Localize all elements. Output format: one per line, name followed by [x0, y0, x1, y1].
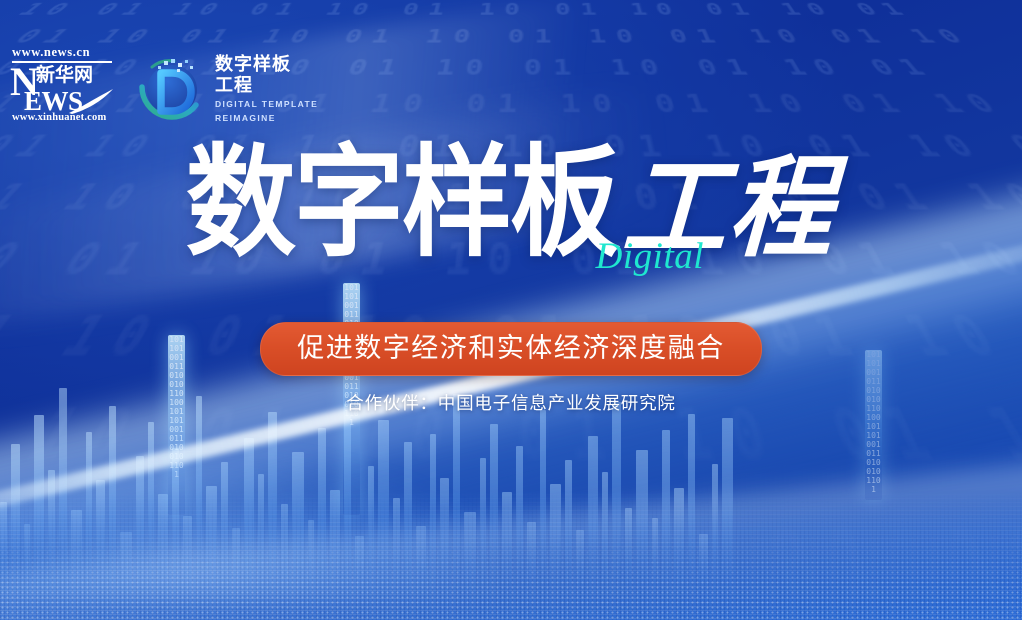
skyline-bar	[527, 522, 536, 620]
skyline-bar	[281, 504, 288, 620]
skyline-bar	[430, 434, 436, 620]
skyline-bar	[24, 524, 30, 620]
promo-banner: 01 10 01 10 01 10 01 10 01 10 01 10 01 1…	[0, 0, 1022, 620]
skyline-bar	[86, 432, 92, 620]
binary-code-row: 01 10 01 10 01 10 01 10 01 10 01 10 01 1…	[0, 497, 1022, 620]
skyline-bar	[453, 394, 460, 620]
hero-title-english: Digital	[596, 238, 704, 275]
hero-title-line: 数字样板 工程 Digital	[190, 155, 832, 267]
skyline-bar	[699, 534, 708, 620]
lower-left-glow	[0, 440, 613, 600]
skyline-bar	[59, 388, 67, 620]
skyline-bar	[652, 518, 658, 620]
skyline-bar	[565, 460, 572, 620]
skyline-bar	[588, 436, 598, 620]
xinhua-wordmark: N 新华网 EWS	[10, 64, 118, 114]
xinhua-swoosh-icon	[68, 88, 114, 114]
skyline-bar	[268, 412, 277, 620]
digital-template-text-block: 数字样板 工程 DIGITAL TEMPLATE REIMAGINE	[215, 54, 318, 124]
skyline-bar	[502, 492, 512, 620]
dt-cn-line1: 数字样板	[215, 54, 318, 75]
skyline-bar	[636, 450, 648, 620]
skyline-bar	[550, 484, 561, 620]
skyline-bar	[688, 414, 695, 620]
skyline-bar	[540, 410, 546, 620]
skyline-bar	[183, 516, 192, 620]
skyline-bar	[196, 396, 202, 620]
skyline-bar	[612, 402, 621, 620]
skyline-bar	[440, 478, 449, 620]
skyline-bar	[96, 480, 105, 620]
slogan-pill[interactable]: 促进数字经济和实体经济深度融合	[260, 322, 762, 376]
dt-en-line2: REIMAGINE	[215, 113, 318, 124]
skyline-bar	[712, 464, 718, 620]
hero-title-heavy: 数字样板	[186, 142, 618, 267]
skyline-bar	[34, 415, 44, 620]
xinhua-net-logo[interactable]: www.news.cn N 新华网 EWS www.xinhuanet.com	[10, 46, 118, 132]
skyline-bar	[393, 498, 400, 620]
xinhua-url-top: www.news.cn	[10, 46, 118, 59]
partner-line: 合作伙伴：中国电子信息产业发展研究院	[346, 393, 675, 413]
logo-row: www.news.cn N 新华网 EWS www.xinhuanet.com	[0, 0, 318, 132]
skyline-bar	[244, 438, 254, 620]
skyline-bar	[258, 474, 264, 620]
skyline-bar	[416, 526, 426, 620]
skyline-bar	[330, 490, 340, 620]
skyline-bar	[71, 510, 82, 620]
skyline-bar	[576, 530, 584, 620]
skyline-bar	[48, 470, 55, 620]
skyline-bar	[158, 494, 168, 620]
skyline-bar	[480, 458, 486, 620]
skyline-bar	[292, 452, 304, 620]
dt-cn-line2: 工程	[215, 75, 318, 96]
skyline-bar	[378, 420, 389, 620]
skyline-bar	[602, 472, 608, 620]
skyline-bar	[221, 462, 228, 620]
xinhua-chinese-name: 新华网	[36, 66, 93, 86]
halftone-floor	[0, 490, 1022, 620]
skyline-bar	[109, 406, 116, 620]
skyline-bar	[148, 422, 154, 620]
skyline-bar	[355, 536, 364, 620]
skyline-bar	[722, 418, 733, 620]
skyline-bar	[0, 502, 7, 620]
halftone-floor-dots	[0, 525, 1022, 620]
skyline-bar	[232, 528, 240, 620]
skyline-bar	[662, 430, 670, 620]
skyline-bar	[318, 428, 326, 620]
skyline-bar	[136, 456, 144, 620]
slogan-pill-wrap: 促进数字经济和实体经济深度融合	[0, 322, 1022, 376]
skyline-bar	[11, 444, 20, 620]
digital-template-project-logo[interactable]: 数字样板 工程 DIGITAL TEMPLATE REIMAGINE	[134, 53, 318, 125]
skyline-bar	[368, 466, 374, 620]
digital-d-mark-icon	[134, 53, 206, 125]
skyline-bar	[464, 512, 476, 620]
skyline-bar	[308, 520, 314, 620]
skyline-bar	[404, 442, 412, 620]
skyline-bar	[490, 424, 498, 620]
dt-en-line1: DIGITAL TEMPLATE	[215, 99, 318, 110]
skyline-bar	[674, 488, 684, 620]
skyline-bar	[206, 486, 217, 620]
skyline-bar	[625, 508, 632, 620]
hero-title-block: 数字样板 工程 Digital	[0, 155, 1022, 267]
skyline-bar	[120, 532, 132, 620]
skyline-bar	[516, 446, 523, 620]
partner-line-wrap: 合作伙伴：中国电子信息产业发展研究院	[0, 392, 1022, 414]
